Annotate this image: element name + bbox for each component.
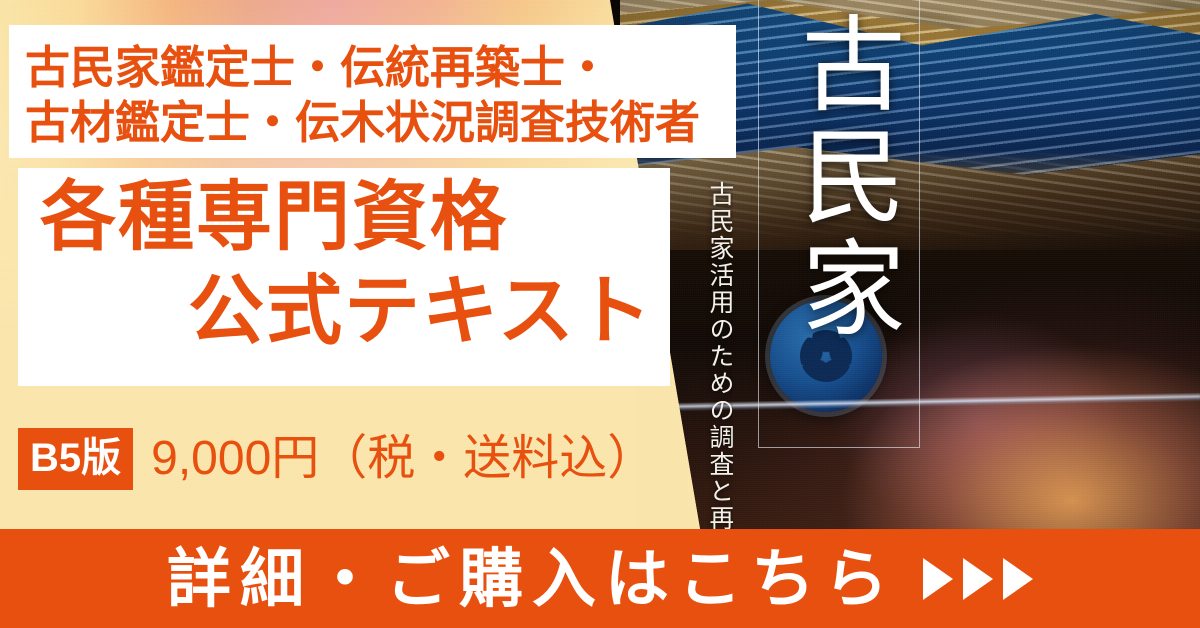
- qualifications-line-2: 古材鑑定士・伝木状況調査技術者: [25, 100, 700, 145]
- format-badge: B5版: [18, 428, 133, 490]
- play-arrow-icon: [963, 558, 993, 600]
- price-row: B5版 9,000円（税・送料込）: [18, 428, 655, 490]
- qualifications-panel: 古民家鑑定士・伝統再築士・ 古材鑑定士・伝木状況調査技術者: [9, 25, 736, 158]
- headline-line-2: 公式テキスト: [188, 274, 654, 350]
- cta-label: 詳細・ご購入はこちら: [167, 547, 897, 611]
- book-cover-title: 古民家: [770, 10, 906, 346]
- headline-panel: 各種専門資格 公式テキスト: [18, 168, 670, 386]
- cta-bar[interactable]: 詳細・ご購入はこちら: [0, 529, 1200, 628]
- price-amount: 9,000円（税・送料込）: [151, 435, 655, 483]
- cta-arrows: [923, 558, 1033, 600]
- play-arrow-icon: [923, 558, 953, 600]
- headline-line-1: 各種専門資格: [40, 180, 508, 256]
- play-arrow-icon: [1003, 558, 1033, 600]
- promo-banner: 古民家 伝統構法 古民家活用のための調査と再生の 古民家鑑定士・伝統再築士・ 古…: [0, 0, 1200, 628]
- qualifications-line-1: 古民家鑑定士・伝統再築士・: [25, 45, 610, 90]
